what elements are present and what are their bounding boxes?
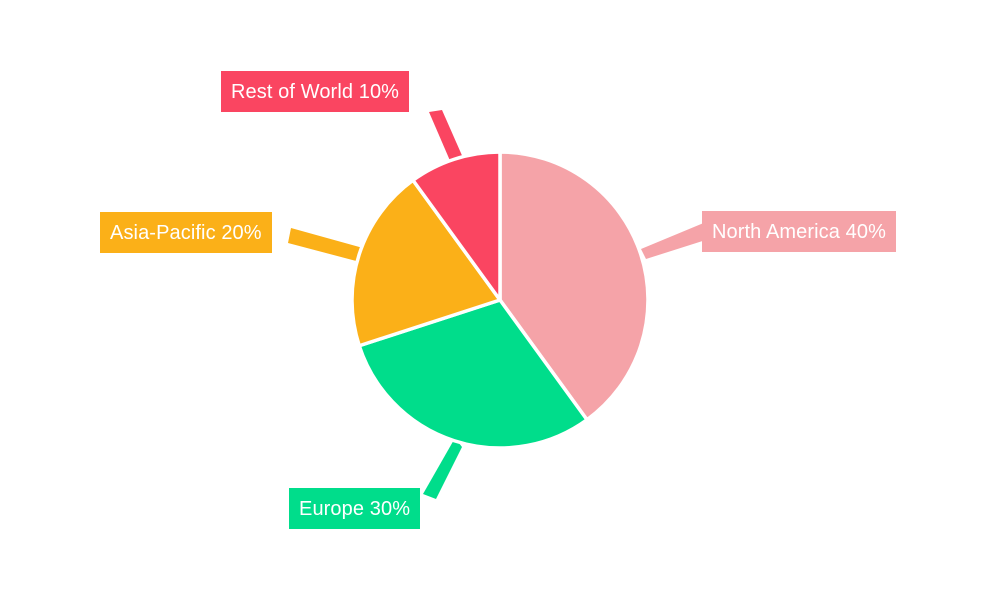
leader-line-asia-pacific bbox=[288, 228, 363, 262]
pie-label-europe-text: Europe 30% bbox=[299, 499, 410, 519]
pie-label-north-america: North America 40% bbox=[702, 211, 896, 252]
pie-label-asia-pacific: Asia-Pacific 20% bbox=[100, 212, 272, 253]
leader-line-europe bbox=[423, 438, 462, 499]
pie-slices bbox=[352, 152, 648, 448]
leader-line-rest-of-world bbox=[429, 110, 464, 163]
pie-label-europe: Europe 30% bbox=[289, 488, 420, 529]
pie-label-asia-pacific-text: Asia-Pacific 20% bbox=[110, 223, 262, 243]
pie-label-north-america-text: North America 40% bbox=[712, 222, 886, 242]
pie-label-rest-of-world-text: Rest of World 10% bbox=[231, 82, 399, 102]
pie-label-rest-of-world: Rest of World 10% bbox=[221, 71, 409, 112]
pie-chart-figure: North America 40% Europe 30% Asia-Pacifi… bbox=[0, 0, 1000, 600]
pie-chart-canvas bbox=[0, 0, 1000, 600]
